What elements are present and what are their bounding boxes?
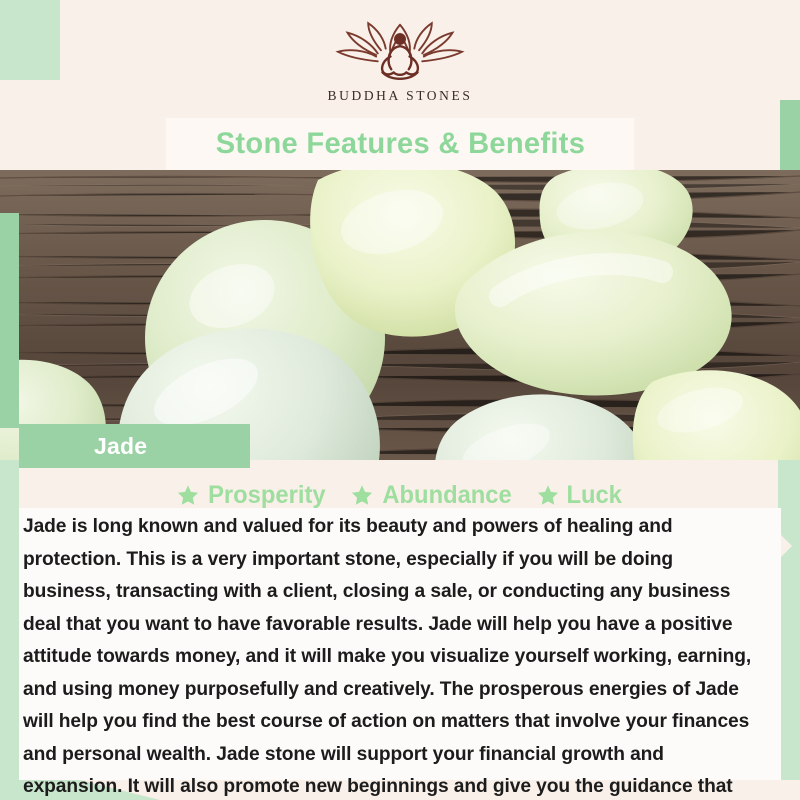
- benefit-item-prosperity: Prosperity: [177, 481, 329, 510]
- page-title: Stone Features & Benefits: [215, 127, 584, 161]
- benefit-item-abundance: Abundance: [351, 481, 515, 510]
- brand-name: BUDDHA STONES: [328, 88, 473, 104]
- benefit-item-luck: Luck: [537, 481, 623, 510]
- benefit-label: Abundance: [382, 481, 511, 510]
- infographic-card: BUDDHA STONES: [0, 0, 800, 800]
- decoration-green-left-strip: [0, 213, 19, 428]
- benefit-label: Prosperity: [208, 481, 325, 510]
- star-icon: [537, 484, 559, 506]
- description-panel: Jade is long known and valued for its be…: [19, 508, 781, 780]
- section-title-band: Stone Features & Benefits: [166, 118, 634, 170]
- star-icon: [351, 484, 373, 506]
- star-icon: [177, 484, 199, 506]
- description-text: Jade is long known and valued for its be…: [23, 510, 766, 800]
- brand-logo: BUDDHA STONES: [0, 20, 800, 104]
- jade-stones-illustration: [0, 170, 800, 460]
- stone-photo: [0, 170, 800, 460]
- stone-name-band: Jade: [19, 424, 250, 468]
- benefit-label: Luck: [566, 481, 621, 510]
- lotus-meditating-figure-icon: [320, 20, 480, 82]
- stone-name-label: Jade: [94, 433, 147, 460]
- benefits-row: Prosperity Abundance Luck: [0, 478, 800, 512]
